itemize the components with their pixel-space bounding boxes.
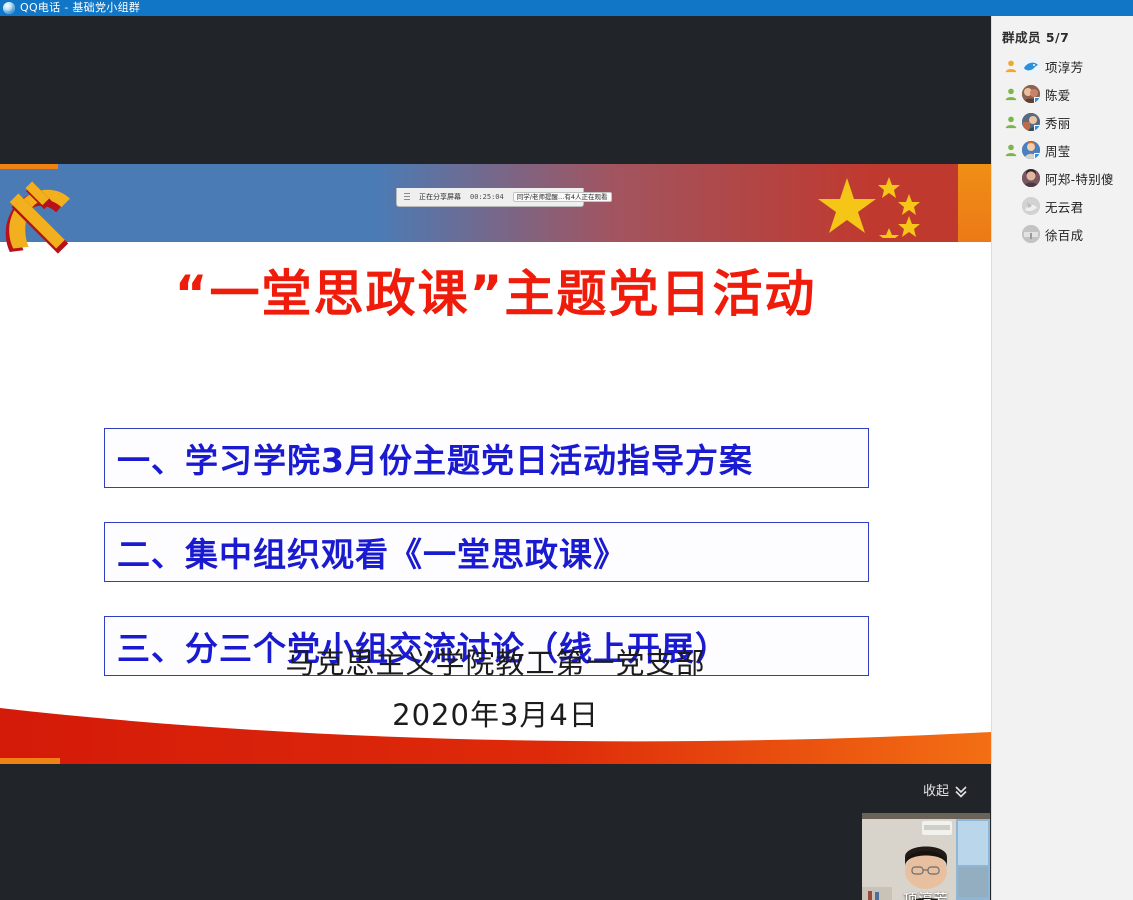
- slide-title: “一堂思政课”主题党日活动: [0, 254, 991, 326]
- collapse-toggle[interactable]: 收起: [923, 784, 969, 798]
- member-name: 秀丽: [1045, 113, 1071, 132]
- avatar: [1022, 85, 1040, 103]
- qq-status-badge: [1034, 97, 1040, 103]
- video-stage: 正在分享屏幕 00:25:04 同学/老师提醒…有4人正在观看: [0, 16, 991, 900]
- member-row-5[interactable]: 阿郑-特别傻: [992, 164, 1133, 192]
- share-note: 同学/老师提醒…有4人正在观看: [513, 192, 612, 203]
- speaking-indicator-icon: [1002, 113, 1020, 131]
- speaking-indicator-placeholder: [1002, 197, 1020, 215]
- member-row-1[interactable]: 项淳芳: [992, 52, 1133, 80]
- speaking-indicator-icon: [1002, 85, 1020, 103]
- banner-orange-accent-right: [958, 164, 991, 242]
- slide-body: “一堂思政课”主题党日活动 一、学习学院3月份主题党日活动指导方案 二、集中组织…: [0, 242, 991, 712]
- avatar: [1022, 141, 1040, 159]
- qq-penguin-icon: [3, 2, 15, 14]
- collapse-label: 收起: [923, 785, 949, 798]
- shared-slide: “一堂思政课”主题党日活动 一、学习学院3月份主题党日活动指导方案 二、集中组织…: [0, 164, 991, 764]
- self-video-feed: [862, 813, 990, 900]
- slide-point-2: 二、集中组织观看《一堂思政课》: [104, 522, 869, 582]
- avatar: [1022, 57, 1040, 75]
- qq-call-window: QQ电话 - 基础党小组群 正在分享屏幕 00:25:04 同学/老师提醒…有4…: [0, 0, 1133, 900]
- slide-bottom-ribbon: [0, 702, 991, 764]
- party-emblem-hammer-sickle-icon: [0, 178, 82, 264]
- qq-status-badge: [1034, 125, 1040, 131]
- slide-point-2-text: 二、集中组织观看《一堂思政课》: [105, 528, 627, 576]
- slide-point-1-text: 一、学习学院3月份主题党日活动指导方案: [105, 434, 753, 482]
- banner-orange-accent-left: [0, 164, 58, 169]
- self-video-name: 项淳芳: [862, 889, 990, 900]
- member-count-label: 群成员 5/7: [992, 16, 1133, 52]
- china-flag-stars-icon: [813, 172, 943, 238]
- share-timer: 00:25:04: [470, 193, 504, 201]
- window-title: QQ电话 - 基础党小组群: [20, 0, 140, 16]
- share-status-text: 正在分享屏幕: [419, 194, 461, 201]
- window-titlebar: QQ电话 - 基础党小组群: [0, 0, 1133, 16]
- slide-point-1: 一、学习学院3月份主题党日活动指导方案: [104, 428, 869, 488]
- member-row-3[interactable]: 秀丽: [992, 108, 1133, 136]
- member-row-7[interactable]: 徐百成: [992, 220, 1133, 248]
- screen-share-toolbar[interactable]: 正在分享屏幕 00:25:04 同学/老师提醒…有4人正在观看: [396, 188, 584, 207]
- qq-status-badge: [1034, 153, 1040, 159]
- avatar: [1022, 113, 1040, 131]
- member-sidebar: 群成员 5/7 项淳芳: [991, 16, 1133, 900]
- chevron-double-down-icon: [953, 784, 969, 798]
- self-video-thumbnail[interactable]: 项淳芳: [862, 813, 990, 900]
- member-name: 周莹: [1045, 141, 1071, 160]
- speaking-indicator-icon: [1002, 57, 1020, 75]
- member-name: 徐百成: [1045, 225, 1083, 244]
- avatar: [1022, 225, 1040, 243]
- member-name: 陈爱: [1045, 85, 1071, 104]
- member-row-2[interactable]: 陈爱: [992, 80, 1133, 108]
- slide-footer-org: 马克思主义学院教工第一党支部: [0, 640, 991, 682]
- member-row-4[interactable]: 周莹: [992, 136, 1133, 164]
- member-row-6[interactable]: 无云君: [992, 192, 1133, 220]
- member-name: 阿郑-特别傻: [1045, 169, 1114, 188]
- member-name: 无云君: [1045, 197, 1083, 216]
- member-name: 项淳芳: [1045, 57, 1083, 76]
- speaking-indicator-placeholder: [1002, 169, 1020, 187]
- avatar: [1022, 197, 1040, 215]
- avatar: [1022, 169, 1040, 187]
- speaking-indicator-placeholder: [1002, 225, 1020, 243]
- speaking-indicator-icon: [1002, 141, 1020, 159]
- drag-grip-icon[interactable]: [404, 193, 410, 202]
